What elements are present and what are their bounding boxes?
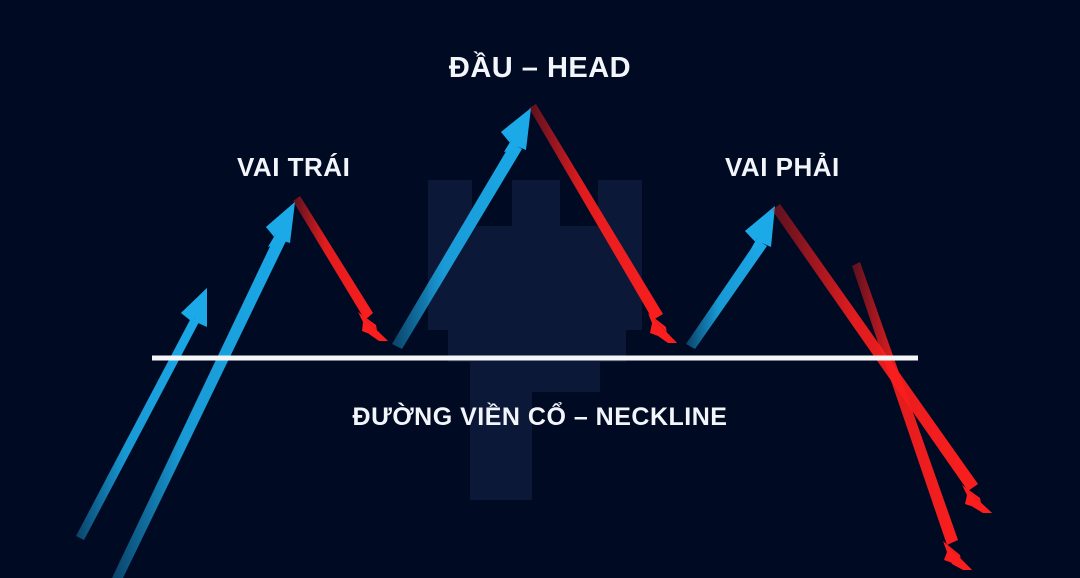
label-right-shoulder: VAI PHẢI: [725, 152, 840, 183]
label-head: ĐẦU – HEAD: [449, 52, 631, 85]
arrow-downtrend-breakdown-2: [852, 262, 972, 570]
head-and-shoulders-chart: [0, 0, 1080, 578]
diagram-canvas: ĐẦU – HEAD VAI TRÁI VAI PHẢI ĐƯỜNG VIỀN …: [0, 0, 1080, 578]
arrow-uptrend-right-shoulder: [686, 206, 775, 349]
arrow-uptrend-1: [76, 288, 207, 540]
label-left-shoulder: VAI TRÁI: [237, 152, 350, 183]
arrow-downtrend-left-shoulder: [293, 196, 388, 341]
arrow-uptrend-left-shoulder: [112, 202, 295, 578]
label-neckline: ĐƯỜNG VIỀN CỔ – NECKLINE: [353, 403, 728, 432]
